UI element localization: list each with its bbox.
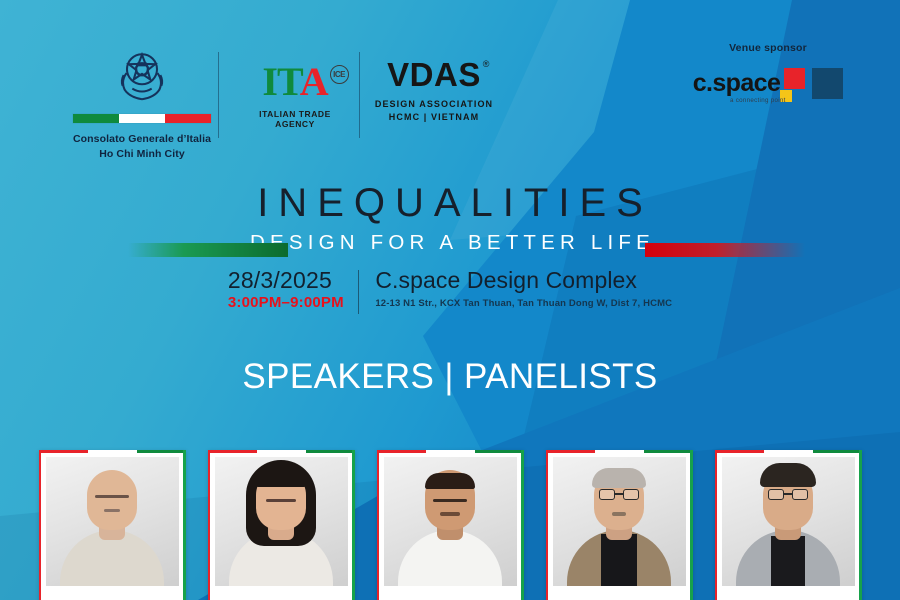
venue-sponsor-label: Venue sponsor xyxy=(678,42,858,54)
ita-logo: ITA ICE ITALIAN TRADE AGENCY xyxy=(240,62,350,129)
speaker-card-list xyxy=(0,450,900,600)
vdas-subtitle-1: DESIGN ASSOCIATION xyxy=(374,99,494,109)
vdas-subtitle-2: HCMC | VIETNAM xyxy=(374,112,494,122)
ita-wordmark: ITA ICE xyxy=(262,62,327,102)
speaker-portrait-4 xyxy=(553,457,686,586)
speaker-portrait-3 xyxy=(384,457,517,586)
accent-bar-green xyxy=(128,243,288,257)
event-meta: 28/3/2025 3:00PM–9:00PM C.space Design C… xyxy=(0,268,900,314)
logo-divider-1 xyxy=(218,52,219,138)
cspace-squares xyxy=(780,68,843,99)
venue-address: 12-13 N1 Str., KCX Tan Thuan, Tan Thuan … xyxy=(375,298,672,309)
eyeglasses-icon xyxy=(599,489,639,500)
venue-name: C.space Design Complex xyxy=(375,268,672,292)
cspace-tagline: a connecting point xyxy=(730,97,786,104)
page-title: INEQUALITIES xyxy=(0,182,900,224)
eyeglasses-icon xyxy=(768,489,808,500)
consulate-logo: Consolato Generale d’Italia Ho Chi Minh … xyxy=(52,46,232,162)
venue-sponsor-block: Venue sponsor c.space a connecting point xyxy=(678,42,858,109)
logo-divider-2 xyxy=(359,52,360,138)
consulate-line-1: Consolato Generale d’Italia xyxy=(52,132,232,147)
consulate-line-2: Ho Chi Minh City xyxy=(52,147,232,162)
ita-mark-green: IT xyxy=(262,59,299,104)
card-flag-rule xyxy=(39,450,186,453)
event-datetime: 28/3/2025 3:00PM–9:00PM xyxy=(228,268,358,312)
speaker-card[interactable] xyxy=(39,450,186,600)
speaker-card[interactable] xyxy=(546,450,693,600)
vdas-logo: VDAS® DESIGN ASSOCIATION HCMC | VIETNAM xyxy=(374,58,494,122)
cspace-red-square-icon xyxy=(784,68,805,89)
ita-mark-red: A xyxy=(300,59,328,104)
speaker-portrait-2 xyxy=(215,457,348,586)
card-flag-rule xyxy=(208,450,355,453)
italian-flag-bar-icon xyxy=(73,114,211,123)
vdas-registered-icon: ® xyxy=(483,60,490,69)
speaker-card[interactable] xyxy=(208,450,355,600)
event-date: 28/3/2025 xyxy=(228,268,344,292)
speaker-card[interactable] xyxy=(377,450,524,600)
vdas-wordmark: VDAS® xyxy=(387,58,481,91)
speakers-heading: SPEAKERS | PANELISTS xyxy=(0,357,900,397)
poster-header: Consolato Generale d’Italia Ho Chi Minh … xyxy=(0,0,900,165)
accent-bar-red xyxy=(645,243,805,257)
card-flag-rule xyxy=(715,450,862,453)
speaker-card[interactable] xyxy=(715,450,862,600)
cspace-wordmark: c.space xyxy=(693,71,781,96)
card-flag-rule xyxy=(377,450,524,453)
speaker-portrait-1 xyxy=(46,457,179,586)
ita-subtitle: ITALIAN TRADE AGENCY xyxy=(240,109,350,129)
speaker-portrait-5 xyxy=(722,457,855,586)
card-flag-rule xyxy=(546,450,693,453)
italian-republic-emblem-icon xyxy=(111,46,173,108)
event-venue: C.space Design Complex 12-13 N1 Str., KC… xyxy=(359,268,672,309)
event-time: 3:00PM–9:00PM xyxy=(228,294,344,312)
ice-registered-mark-icon: ICE xyxy=(330,65,349,84)
cspace-navy-square-icon xyxy=(812,68,843,99)
cspace-logo: c.space xyxy=(678,68,858,99)
vdas-mark-text: VDAS xyxy=(387,56,481,93)
